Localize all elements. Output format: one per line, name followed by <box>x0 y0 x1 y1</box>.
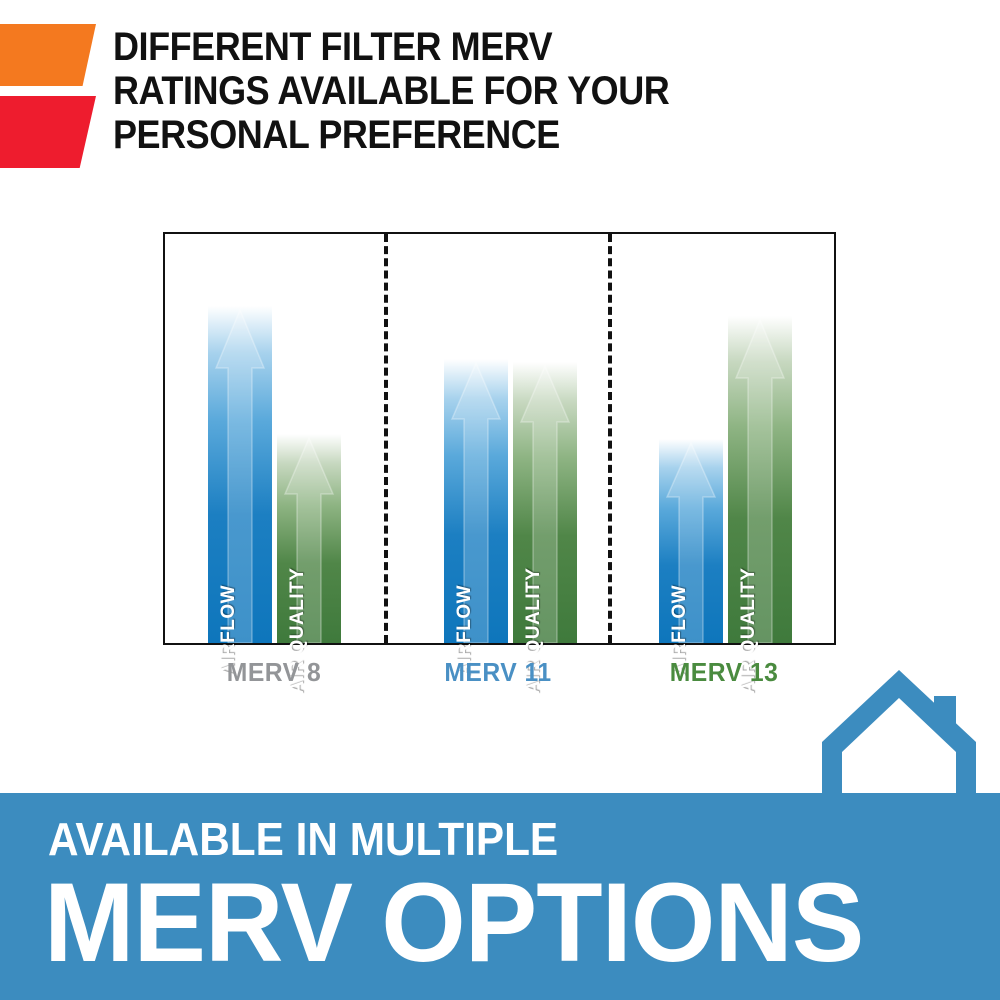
infographic-canvas: DIFFERENT FILTER MERV RATINGS AVAILABLE … <box>0 0 1000 1000</box>
bottom-banner: AVAILABLE IN MULTIPLE MERV OPTIONS <box>0 793 1000 1000</box>
banner-title: MERV OPTIONS <box>44 867 863 979</box>
logo-orange-slant-icon <box>0 24 96 86</box>
bar-merv8-airquality: AIR QUALITY <box>277 434 341 643</box>
bar-merv13-airquality: AIR QUALITY <box>728 316 792 643</box>
logo-red-slant-icon <box>0 96 96 168</box>
bar-merv11-airquality: AIR QUALITY <box>513 362 577 643</box>
headline-line-3: PERSONAL PREFERENCE <box>113 113 797 157</box>
category-label-merv11: MERV 11 <box>393 657 604 688</box>
bar-merv8-airflow: AIRFLOW <box>208 306 272 643</box>
merv-comparison-chart: AIRFLOW AIR QUALITY <box>163 232 836 645</box>
banner-subtitle: AVAILABLE IN MULTIPLE <box>48 815 558 863</box>
chart-plot-area: AIRFLOW AIR QUALITY <box>165 234 834 643</box>
page-title: DIFFERENT FILTER MERV RATINGS AVAILABLE … <box>113 25 797 157</box>
brand-logo <box>0 24 100 169</box>
category-label-merv13: MERV 13 <box>617 657 832 688</box>
headline-line-2: RATINGS AVAILABLE FOR YOUR <box>113 69 797 113</box>
group-divider-1 <box>384 234 388 643</box>
bar-merv11-airflow: AIRFLOW <box>444 359 508 643</box>
group-divider-2 <box>608 234 612 643</box>
bar-merv13-airflow: AIRFLOW <box>659 439 723 643</box>
headline-line-1: DIFFERENT FILTER MERV <box>113 25 797 69</box>
house-icon <box>818 666 980 801</box>
category-label-merv8: MERV 8 <box>169 657 380 688</box>
